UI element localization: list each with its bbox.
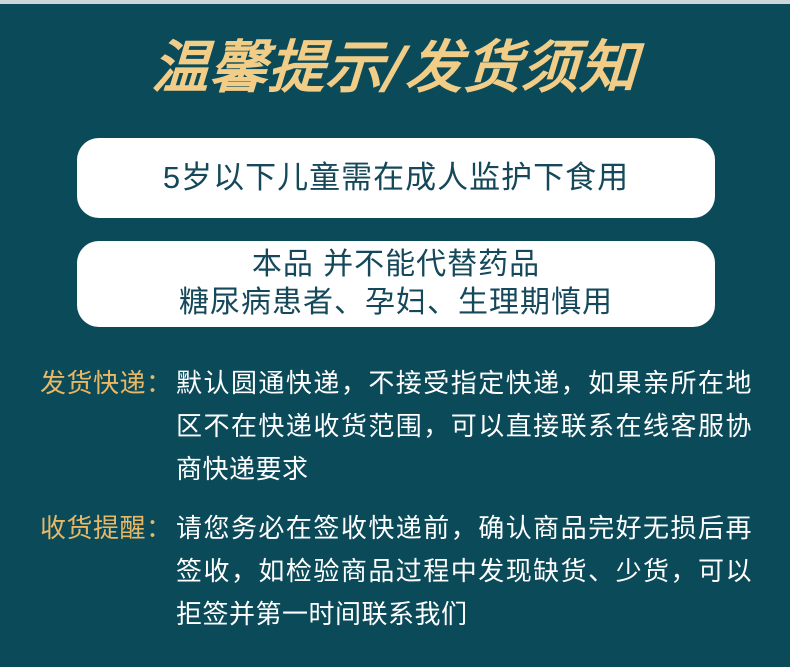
- note-receiving-reminder-label: 收货提醒：: [40, 507, 176, 550]
- page-title: 温馨提示/发货须知: [150, 32, 640, 104]
- notes-section: 发货快递： 默认圆通快递，不接受指定快递，如果亲所在地区不在快递收货范围，可以直…: [40, 362, 752, 652]
- callout-not-medicine-line-2: 糖尿病患者、孕妇、生理期慎用: [179, 284, 613, 322]
- top-edge-strip: [0, 0, 790, 4]
- callout-child-supervision: 5岁以下儿童需在成人监护下食用: [77, 138, 715, 218]
- note-shipping-courier-label: 发货快递：: [40, 362, 176, 405]
- note-shipping-courier-text: 默认圆通快递，不接受指定快递，如果亲所在地区不在快递收货范围，可以直接联系在线客…: [176, 362, 752, 491]
- note-receiving-reminder: 收货提醒： 请您务必在签收快递前，确认商品完好无损后再签收，如检验商品过程中发现…: [40, 507, 752, 636]
- shipping-notice-banner: 温馨提示/发货须知 5岁以下儿童需在成人监护下食用 本品 并不能代替药品 糖尿病…: [0, 0, 790, 667]
- note-shipping-courier: 发货快递： 默认圆通快递，不接受指定快递，如果亲所在地区不在快递收货范围，可以直…: [40, 362, 752, 491]
- note-receiving-reminder-text: 请您务必在签收快递前，确认商品完好无损后再签收，如检验商品过程中发现缺货、少货，…: [176, 507, 752, 636]
- callout-not-medicine-line-1: 本品 并不能代替药品: [252, 246, 540, 284]
- page-title-container: 温馨提示/发货须知: [0, 32, 790, 104]
- callout-not-medicine: 本品 并不能代替药品 糖尿病患者、孕妇、生理期慎用: [77, 241, 715, 327]
- callout-child-supervision-line-1: 5岁以下儿童需在成人监护下食用: [163, 158, 629, 198]
